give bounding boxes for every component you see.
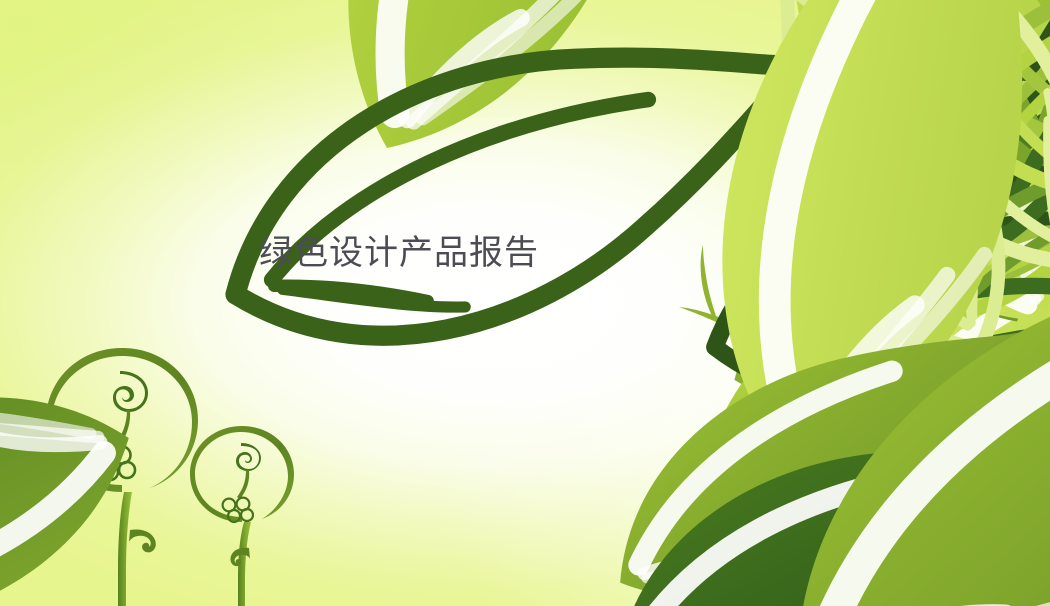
decorative-artwork <box>0 0 1050 606</box>
slide-title: 绿色设计产品报告 <box>259 232 539 274</box>
slide-canvas: 绿色设计产品报告 <box>0 0 1050 606</box>
